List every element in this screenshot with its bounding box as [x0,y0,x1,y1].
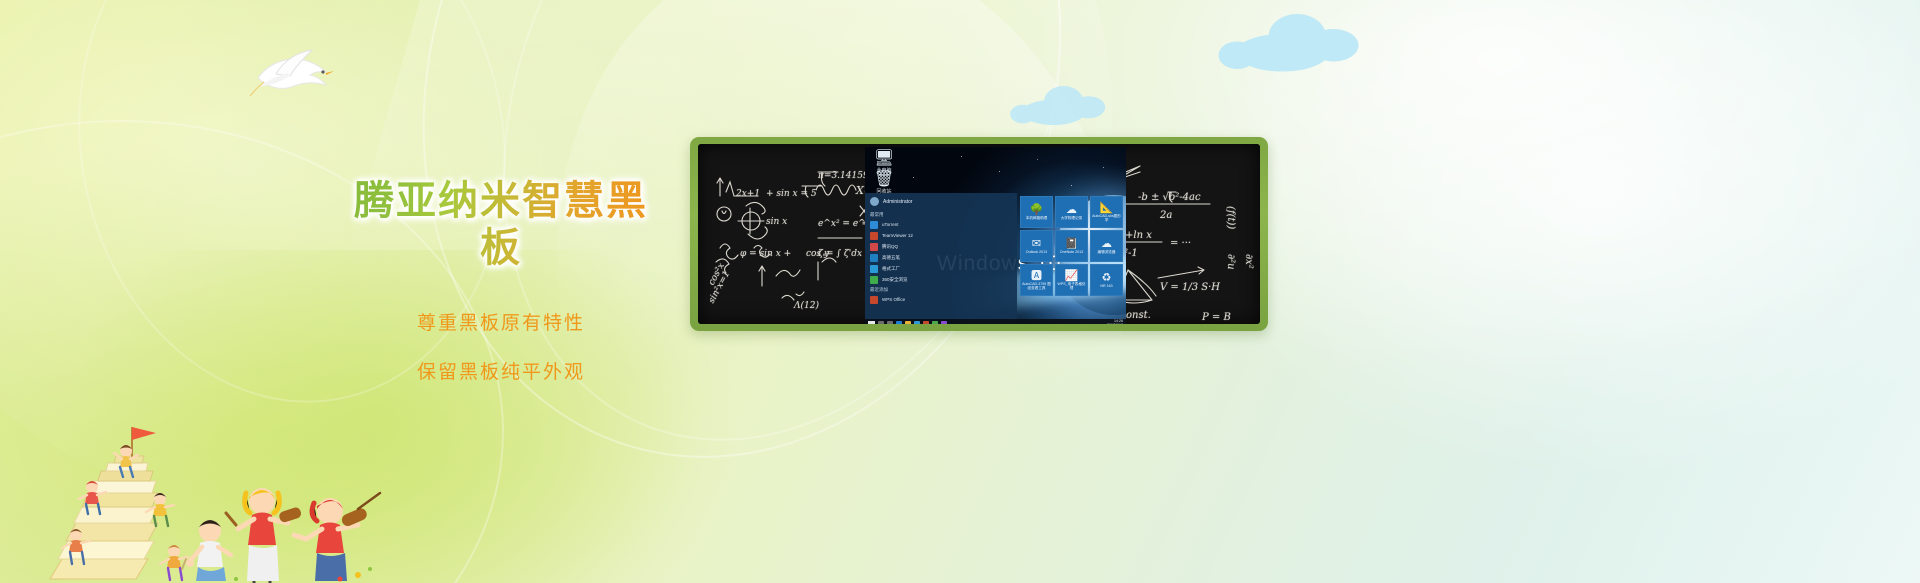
tile-label: 编辑浏览器 [1098,250,1116,254]
start-menu-item-label: 格式工厂 [882,266,900,272]
children-and-books-illustration [40,383,400,583]
svg-text:P = B: P = B [1201,312,1231,323]
start-menu-list: uTorrent TeamViewer 12 腾讯QQ 高德五笔 [865,219,1017,285]
dove-icon [246,38,338,96]
subtitle-line-2: 保留黑板纯平外观 [336,363,666,382]
tile-icon: 🅰 [1031,270,1042,282]
windows-logo-icon[interactable] [868,321,875,325]
tile-label: Outlook 2013 [1026,250,1047,254]
this-pc-icon: 🖥 [871,150,897,168]
svg-text:∂²u: ∂²u [1225,254,1236,270]
taskbar-clock[interactable]: 14:26 2017/9/12 [1107,320,1123,324]
tile-label: AutoCAD-sks图形学 [1092,214,1121,222]
background-swoosh [1180,0,1920,480]
avatar [870,197,879,206]
start-menu-item-label: 腾讯QQ [882,244,898,250]
tile[interactable]: 🅰AutoCAD-3795 图纸查看工具 [1020,264,1053,296]
search-icon[interactable] [878,321,884,324]
page-title: 腾亚纳米智慧黑板 [336,178,666,272]
svg-text:∂x²: ∂x² [1243,254,1254,269]
start-menu-item-label: WPS Office [882,297,905,302]
tile[interactable]: 🌳本机邮箱助理 [1020,196,1053,228]
svg-text:(f(t)): (f(t)) [1225,206,1236,229]
smart-blackboard-device: 2x+1 + sin x = 5 sin x φ = sin x + cos y… [690,137,1268,331]
user-name: Administrator [883,199,912,205]
explorer-icon[interactable] [905,321,911,324]
start-menu-tiles[interactable]: 🌳本机邮箱助理 ☁大学物理记录 📐AutoCAD-sks图形学 ✉Outlook… [1017,193,1126,324]
tile-label: AutoCAD-3795 图纸查看工具 [1022,282,1051,290]
tile-icon: 📐 [1100,202,1114,214]
headline-block: 腾亚纳米智慧黑板 尊重黑板原有特性 保留黑板纯平外观 [336,178,666,382]
subtitle-line-1: 尊重黑板原有特性 [336,314,666,333]
start-menu-item[interactable]: 腾讯QQ [869,241,1013,252]
desktop-icon-recycle-bin[interactable]: 🗑 回收站 [871,171,897,195]
store-icon[interactable] [914,321,920,324]
tile-label: WPS_电子表格处理 [1057,282,1086,290]
svg-text:+ sin x = 5: + sin x = 5 [766,189,817,199]
start-menu-item[interactable]: uTorrent [869,219,1013,230]
app-icon [870,276,878,284]
windows-screen: Windows 10 🖥 此电脑 🗑 回收站 Administrator [865,147,1126,324]
start-menu-item-label: uTorrent [882,222,899,227]
tile-icon: ☁ [1066,204,1077,216]
tile[interactable]: ✉Outlook 2013 [1020,230,1053,262]
start-menu-item-label: TeamViewer 12 [882,233,913,238]
app-icon [870,254,878,262]
start-menu-item[interactable]: WPS Office [869,294,1013,305]
recycle-bin-icon: 🗑 [871,171,897,189]
music-icon[interactable] [932,321,938,324]
start-menu-item[interactable]: 360安全浏览 [869,274,1013,285]
mail-icon[interactable] [923,321,929,324]
task-view-icon[interactable] [887,321,893,324]
tile[interactable]: ☁大学物理记录 [1055,196,1088,228]
start-menu-group-title: 最常用 [865,210,1017,219]
svg-text:-b ± √b²-4ac: -b ± √b²-4ac [1138,192,1201,203]
start-menu-list-recent: WPS Office [865,294,1017,305]
taskbar[interactable]: 14:26 2017/9/12 [865,319,1126,324]
tile-icon: ☁ [1101,238,1112,250]
tile[interactable]: ☁编辑浏览器 [1090,230,1123,262]
app-icon [870,243,878,251]
svg-text:2x+1: 2x+1 [735,189,760,199]
tile[interactable]: 📈WPS_电子表格处理 [1055,264,1088,296]
start-menu-item[interactable]: 格式工厂 [869,263,1013,274]
svg-text:sin x: sin x [766,217,787,227]
svg-text:2a: 2a [1159,210,1172,221]
blackboard-surface: 2x+1 + sin x = 5 sin x φ = sin x + cos y… [698,144,1260,324]
tile-label: NR 163 [1100,284,1112,288]
tile[interactable]: ♻NR 163 [1090,264,1123,296]
tile-icon: 📓 [1065,238,1079,250]
clock-date: 2017/9/12 [1107,323,1123,324]
tile[interactable]: 📓OneNote 2013 [1055,230,1088,262]
media-icon[interactable] [941,321,947,324]
app-icon [870,296,878,304]
start-menu-item-label: 高德五笔 [882,255,900,261]
start-menu-item[interactable]: 高德五笔 [869,252,1013,263]
tile-label: 大学物理记录 [1061,216,1083,220]
app-icon [870,221,878,229]
tile[interactable]: 📐AutoCAD-sks图形学 [1090,196,1123,228]
tile-label: 本机邮箱助理 [1026,216,1048,220]
start-menu-user[interactable]: Administrator [865,193,1017,210]
start-menu-group-title: 最近添加 [865,285,1017,294]
svg-text:φ = sin x +: φ = sin x + [740,249,791,259]
start-menu-item-label: 360安全浏览 [882,277,908,283]
tile-icon: 📈 [1065,270,1079,282]
start-menu-item[interactable]: TeamViewer 12 [869,230,1013,241]
tile-icon: 🌳 [1030,204,1044,216]
tile-label: OneNote 2013 [1060,250,1083,254]
tile-icon: ♻ [1102,272,1112,284]
promo-banner: 腾亚纳米智慧黑板 尊重黑板原有特性 保留黑板纯平外观 [0,0,1920,583]
start-menu[interactable]: Administrator 最常用 uTorrent TeamViewer 12 [865,193,1017,324]
edge-icon[interactable] [896,321,902,324]
app-icon [870,265,878,273]
tile-icon: ✉ [1032,238,1041,250]
app-icon [870,232,878,240]
svg-text:= ···: = ··· [1170,238,1191,249]
svg-text:V = 1/3 S·H: V = 1/3 S·H [1160,282,1220,293]
